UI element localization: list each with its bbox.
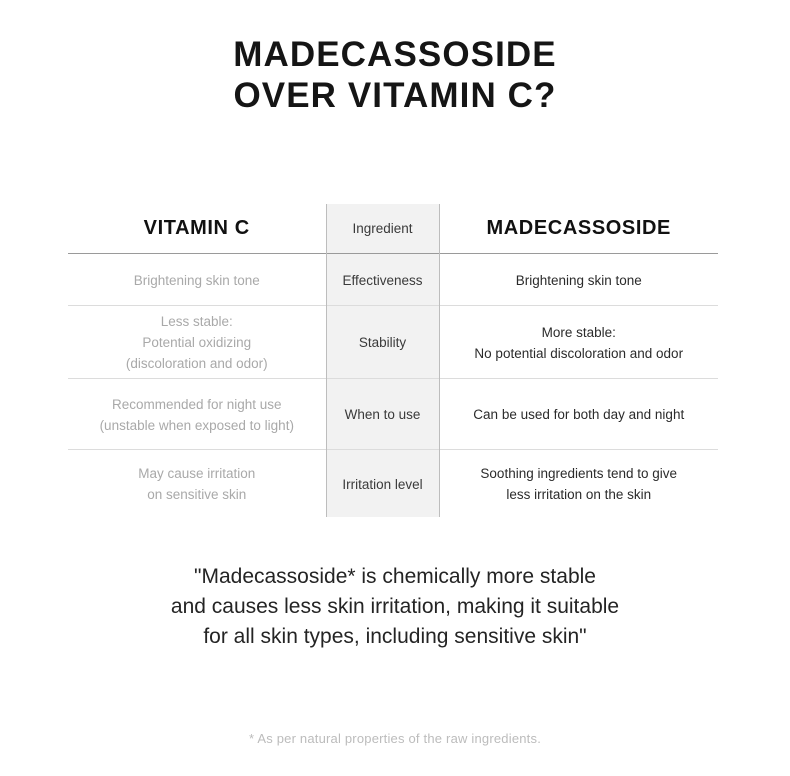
row-3-right-line-1: Can be used for both day and night: [440, 404, 719, 425]
row-2-middle-cell: Stability: [326, 307, 439, 379]
row-1-middle-cell: Effectiveness: [326, 255, 439, 306]
page-title-line-1: MADECASSOSIDE: [0, 34, 790, 75]
row-1-right-line-1: Brightening skin tone: [440, 270, 719, 291]
row-2-left-line-2: Potential oxidizing: [68, 332, 326, 353]
table-row: May cause irritation on sensitive skin I…: [68, 451, 718, 517]
table-header-middle: Ingredient: [326, 204, 439, 254]
row-3-right-cell: Can be used for both day and night: [439, 380, 718, 450]
table-row: Less stable: Potential oxidizing (discol…: [68, 307, 718, 379]
row-4-left-cell: May cause irritation on sensitive skin: [68, 451, 326, 517]
table-row: Recommended for night use (unstable when…: [68, 380, 718, 450]
row-2-left-cell: Less stable: Potential oxidizing (discol…: [68, 307, 326, 379]
table-header-left: VITAMIN C: [68, 204, 326, 254]
page-title-line-2: OVER VITAMIN C?: [0, 75, 790, 116]
page-title: MADECASSOSIDE OVER VITAMIN C?: [0, 34, 790, 116]
row-4-right-cell: Soothing ingredients tend to give less i…: [439, 451, 718, 517]
comparison-table: VITAMIN C Ingredient MADECASSOSIDE Brigh…: [68, 204, 718, 517]
row-2-right-cell: More stable: No potential discoloration …: [439, 307, 718, 379]
row-4-left-line-2: on sensitive skin: [68, 484, 326, 505]
table-header-right: MADECASSOSIDE: [439, 204, 718, 254]
row-3-left-cell: Recommended for night use (unstable when…: [68, 380, 326, 450]
quote-line-2: and causes less skin irritation, making …: [0, 592, 790, 622]
comparison-table-wrapper: VITAMIN C Ingredient MADECASSOSIDE Brigh…: [68, 204, 718, 517]
row-2-right-line-2: No potential discoloration and odor: [440, 343, 719, 364]
row-2-left-line-3: (discoloration and odor): [68, 353, 326, 374]
row-4-left-line-1: May cause irritation: [68, 463, 326, 484]
row-2-right-line-1: More stable:: [440, 322, 719, 343]
row-4-middle-cell: Irritation level: [326, 451, 439, 517]
row-2-left-line-1: Less stable:: [68, 311, 326, 332]
table-row: Brightening skin tone Effectiveness Brig…: [68, 255, 718, 306]
row-3-left-line-1: Recommended for night use: [68, 394, 326, 415]
quote-line-1: "Madecassoside* is chemically more stabl…: [0, 562, 790, 592]
row-1-left-cell: Brightening skin tone: [68, 255, 326, 306]
row-1-left-line-1: Brightening skin tone: [68, 270, 326, 291]
footnote: * As per natural properties of the raw i…: [0, 731, 790, 746]
quote-line-3: for all skin types, including sensitive …: [0, 622, 790, 652]
table-header-row: VITAMIN C Ingredient MADECASSOSIDE: [68, 204, 718, 254]
row-4-right-line-2: less irritation on the skin: [440, 484, 719, 505]
row-3-middle-cell: When to use: [326, 380, 439, 450]
row-4-right-line-1: Soothing ingredients tend to give: [440, 463, 719, 484]
row-1-right-cell: Brightening skin tone: [439, 255, 718, 306]
quote-block: "Madecassoside* is chemically more stabl…: [0, 562, 790, 652]
row-3-left-line-2: (unstable when exposed to light): [68, 415, 326, 436]
